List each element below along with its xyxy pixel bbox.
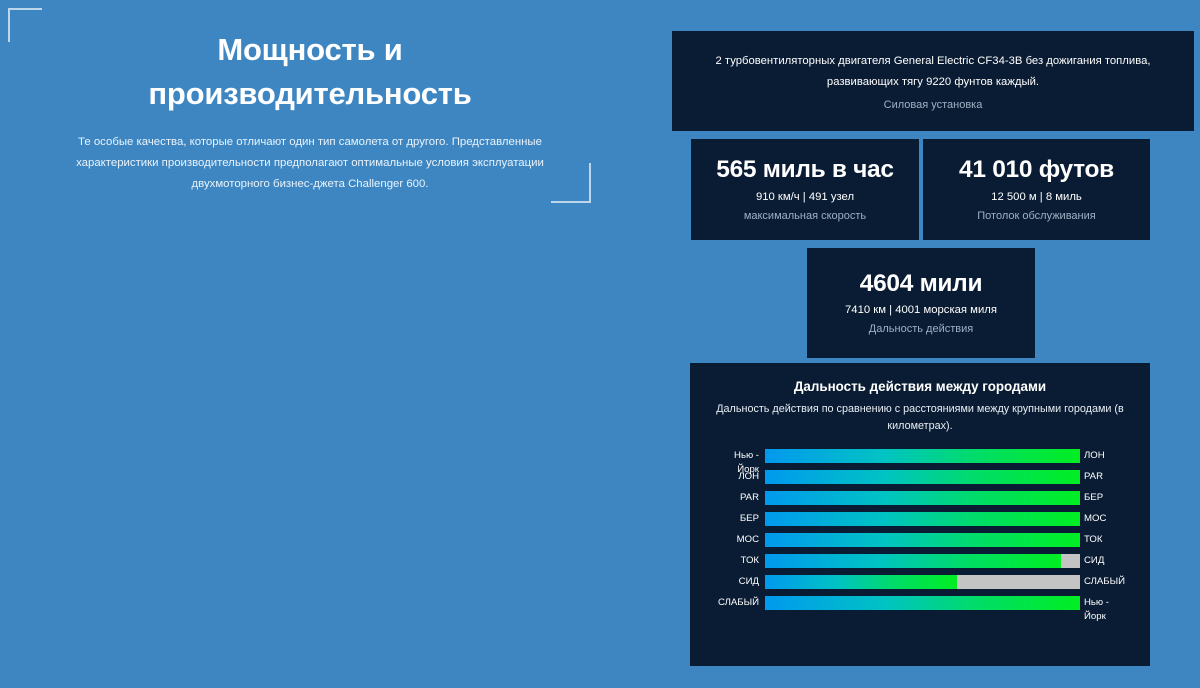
chart-row: МОСТОК bbox=[702, 533, 1138, 554]
chart-bar-track bbox=[765, 470, 1080, 484]
chart-row-label-destination: СЛАБЫЙ bbox=[1080, 575, 1138, 589]
chart-row-label-destination: ЛОН bbox=[1080, 449, 1138, 463]
chart-row-label-destination: ТОК bbox=[1080, 533, 1138, 547]
chart-row-label-origin: ЛОН bbox=[702, 470, 765, 484]
chart-bar-track bbox=[765, 596, 1080, 610]
chart-plot-area: Нью -ЙоркЛОНЛОНPARPARБЕРБЕРМОСМОСТОКТОКС… bbox=[702, 449, 1138, 617]
chart-row: Нью -ЙоркЛОН bbox=[702, 449, 1138, 470]
chart-bar-track bbox=[765, 554, 1080, 568]
stat-value: 41 010 футов bbox=[959, 157, 1114, 184]
chart-bar-fill bbox=[765, 449, 1080, 463]
stat-value: 565 миль в час bbox=[716, 157, 893, 184]
stat-card-range: 4604 мили 7410 км | 4001 морская миля Да… bbox=[807, 248, 1035, 358]
chart-row-label-destination: МОС bbox=[1080, 512, 1138, 526]
stat-card-max-speed: 565 миль в час 910 км/ч | 491 узел макси… bbox=[691, 139, 919, 240]
chart-bar-fill bbox=[765, 533, 1080, 547]
chart-row: СИДСЛАБЫЙ bbox=[702, 575, 1138, 596]
stat-label: Потолок обслуживания bbox=[977, 210, 1095, 222]
stat-subvalue: 7410 км | 4001 морская миля bbox=[845, 304, 997, 316]
chart-row-label-origin: PAR bbox=[702, 491, 765, 505]
chart-subtitle: Дальность действия по сравнению с рассто… bbox=[702, 401, 1138, 436]
chart-bar-track bbox=[765, 512, 1080, 526]
stat-value: 4604 мили bbox=[860, 271, 982, 298]
chart-row-label-destination: БЕР bbox=[1080, 491, 1138, 505]
chart-bar-fill bbox=[765, 470, 1080, 484]
chart-bar-fill bbox=[765, 491, 1080, 505]
chart-title: Дальность действия между городами bbox=[702, 379, 1138, 394]
chart-row-label-destination: PAR bbox=[1080, 470, 1138, 484]
bracket-line-vertical bbox=[8, 8, 10, 42]
chart-row-label-destination-line2: Йорк bbox=[1084, 610, 1138, 624]
chart-row-label-origin: СЛАБЫЙ bbox=[702, 596, 765, 610]
chart-row-label-origin: СИД bbox=[702, 575, 765, 589]
chart-bar-track bbox=[765, 491, 1080, 505]
chart-bar-track bbox=[765, 533, 1080, 547]
chart-bar-fill bbox=[765, 554, 1061, 568]
page-title: Мощность и производительность bbox=[20, 28, 600, 116]
powerplant-label: Силовая установка bbox=[884, 99, 983, 111]
chart-row-label-destination: Нью -Йорк bbox=[1080, 596, 1138, 624]
powerplant-text: 2 турбовентиляторных двигателя General E… bbox=[690, 51, 1176, 93]
stat-subvalue: 910 км/ч | 491 узел bbox=[756, 191, 854, 203]
chart-row-label-origin: ТОК bbox=[702, 554, 765, 568]
bracket-line-horizontal bbox=[8, 8, 42, 10]
hero-description: Те особые качества, которые отличают оди… bbox=[20, 116, 600, 194]
chart-row-label-origin: БЕР bbox=[702, 512, 765, 526]
stat-label: максимальная скорость bbox=[744, 210, 866, 222]
chart-bar-track bbox=[765, 449, 1080, 463]
chart-bar-fill bbox=[765, 596, 1080, 610]
chart-bar-fill bbox=[765, 512, 1080, 526]
chart-row: СЛАБЫЙНью -Йорк bbox=[702, 596, 1138, 617]
range-chart-card: Дальность действия между городами Дально… bbox=[690, 363, 1150, 666]
chart-row-label-destination: СИД bbox=[1080, 554, 1138, 568]
stat-label: Дальность действия bbox=[869, 323, 973, 335]
chart-row: ТОКСИД bbox=[702, 554, 1138, 575]
powerplant-card: 2 турбовентиляторных двигателя General E… bbox=[672, 31, 1194, 131]
stat-subvalue: 12 500 м | 8 миль bbox=[991, 191, 1082, 203]
chart-row-label-origin: МОС bbox=[702, 533, 765, 547]
chart-row: ЛОНPAR bbox=[702, 470, 1138, 491]
chart-row: БЕРМОС bbox=[702, 512, 1138, 533]
bracket-line-horizontal bbox=[551, 201, 591, 203]
specs-column: 2 турбовентиляторных двигателя General E… bbox=[660, 0, 1200, 688]
hero-section: Мощность и производительность Те особые … bbox=[20, 28, 600, 194]
chart-bar-track bbox=[765, 575, 1080, 589]
stat-card-service-ceiling: 41 010 футов 12 500 м | 8 миль Потолок о… bbox=[923, 139, 1150, 240]
chart-row: PARБЕР bbox=[702, 491, 1138, 512]
chart-bar-fill bbox=[765, 575, 957, 589]
